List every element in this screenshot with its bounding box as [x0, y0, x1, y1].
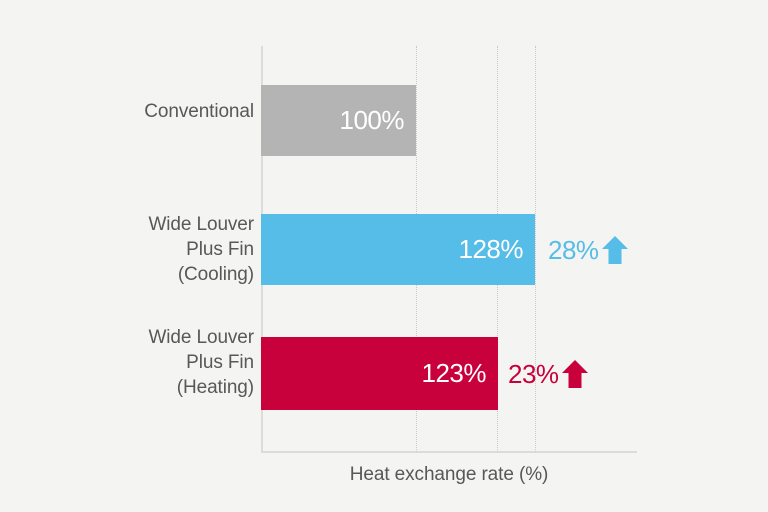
- bar-label-line: Conventional: [14, 99, 254, 124]
- bar-value-heating: 123%: [422, 358, 487, 389]
- delta-value-heating: 23%: [508, 359, 559, 390]
- bar-label-line: Wide Louver: [14, 325, 254, 350]
- bar-label-line: (Cooling): [14, 262, 254, 287]
- bar-label-line: (Heating): [14, 375, 254, 400]
- gridline-128: [535, 46, 537, 452]
- x-axis-line: [261, 451, 637, 453]
- bar-label-cooling: Wide Louver Plus Fin (Cooling): [14, 212, 254, 287]
- bar-label-line: Plus Fin: [14, 237, 254, 262]
- x-axis-caption: Heat exchange rate (%): [261, 464, 637, 486]
- bar-label-heating: Wide Louver Plus Fin (Heating): [14, 325, 254, 400]
- arrow-up-icon: [601, 234, 629, 266]
- bar-value-conventional: 100%: [340, 105, 405, 136]
- delta-group-cooling: 28%: [548, 234, 629, 266]
- bar-conventional: 100%: [261, 85, 416, 156]
- arrow-up-icon: [561, 358, 589, 390]
- bar-cooling: 128%: [261, 214, 535, 285]
- delta-value-cooling: 28%: [548, 235, 599, 266]
- bar-label-line: Wide Louver: [14, 212, 254, 237]
- bar-heating: 123%: [261, 337, 498, 410]
- bar-label-conventional: Conventional: [14, 99, 254, 124]
- heat-exchange-rate-chart: Conventional 100% Wide Louver Plus Fin (…: [0, 0, 768, 512]
- bar-value-cooling: 128%: [459, 234, 524, 265]
- bar-label-line: Plus Fin: [14, 350, 254, 375]
- delta-group-heating: 23%: [508, 358, 589, 390]
